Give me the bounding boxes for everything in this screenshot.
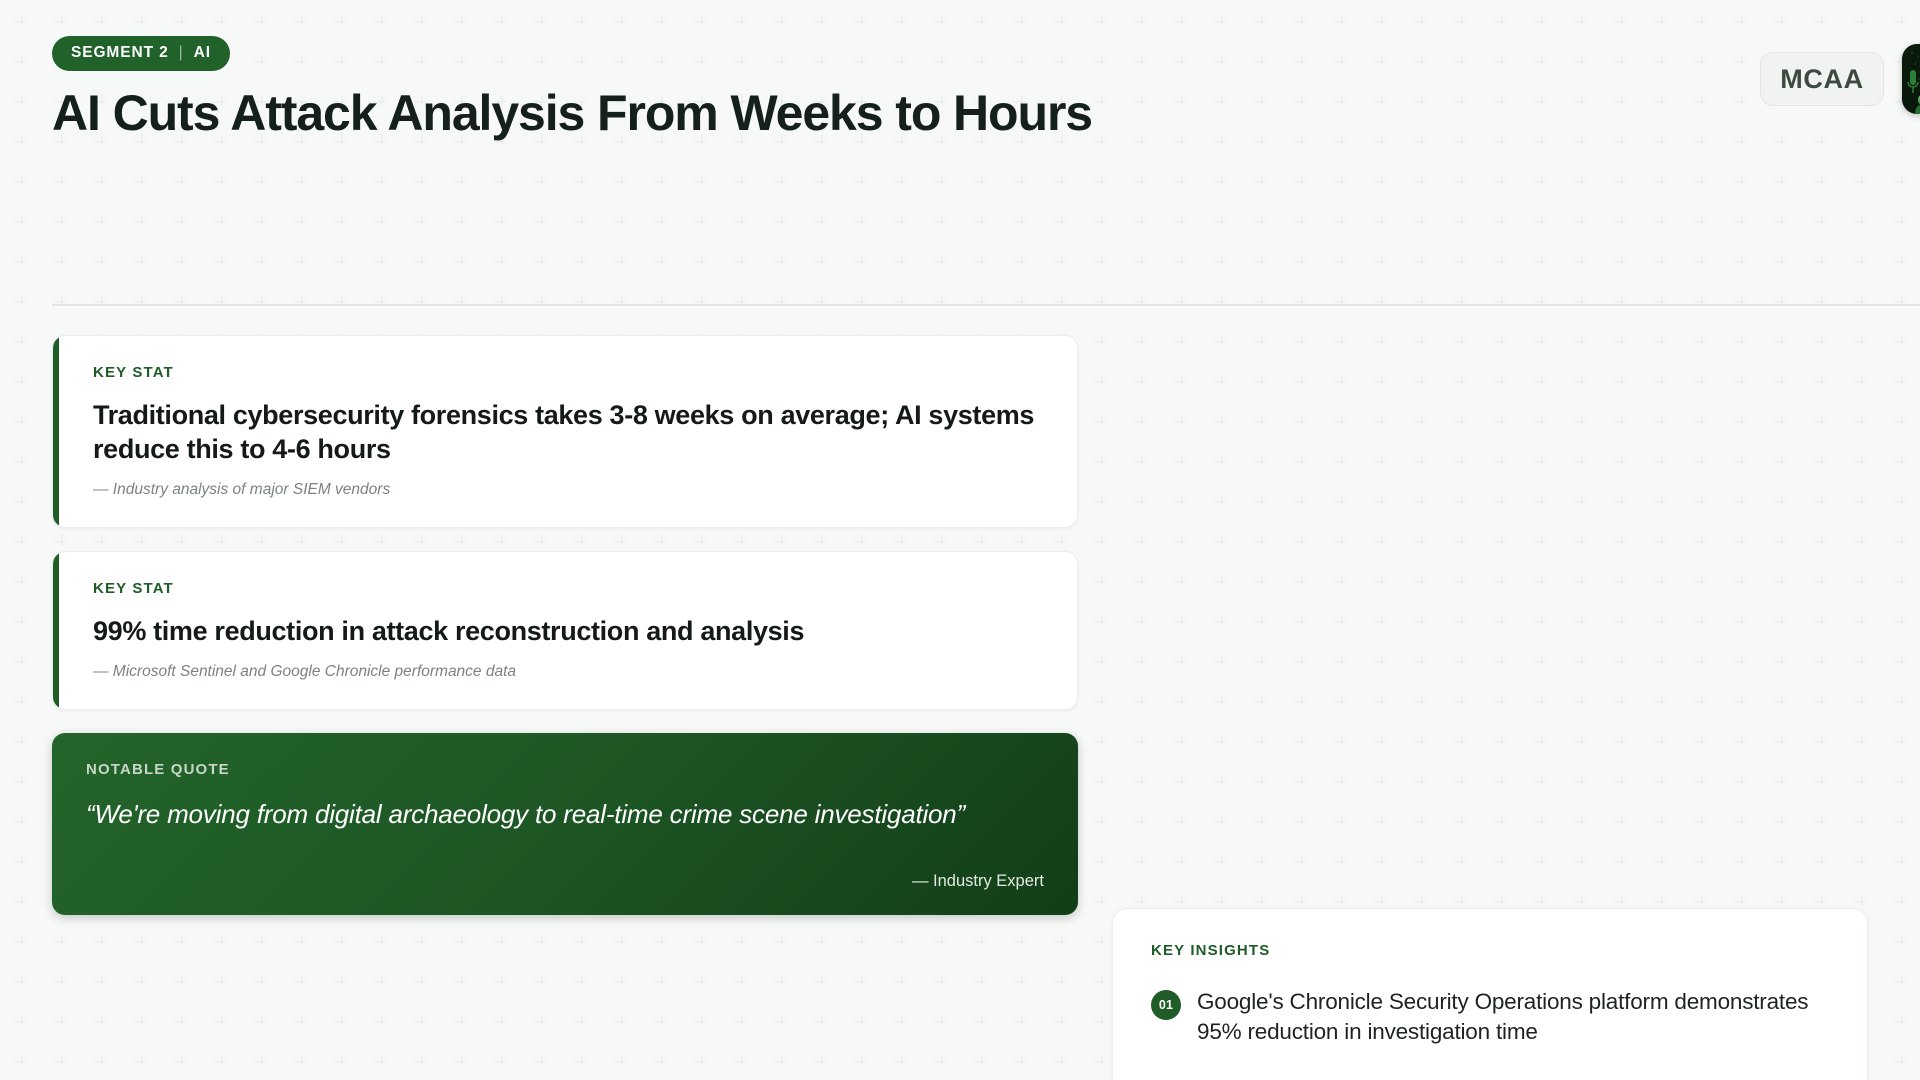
page-title: AI Cuts Attack Analysis From Weeks to Ho… [52,87,1920,140]
podcast-logo-icon: Morpheus Cyber [1902,44,1920,114]
key-insights-panel: KEY INSIGHTS 01 Google's Chronicle Secur… [1112,908,1868,1080]
segment-badge-separator: | [178,44,185,62]
key-stat-headline-2: 99% time reduction in attack reconstruct… [93,614,1043,648]
notable-quote-text: “We're moving from digital archaeology t… [86,798,1044,832]
segment-badge-topic: AI [194,44,211,62]
notable-quote-card: NOTABLE QUOTE “We're moving from digital… [52,733,1078,915]
key-stat-label-1: KEY STAT [93,364,1043,381]
key-stat-card-2: KEY STAT 99% time reduction in attack re… [52,551,1078,710]
insight-number-badge-1: 01 [1151,990,1181,1020]
slide-canvas: SEGMENT 2 | AI AI Cuts Attack Analysis F… [0,0,1920,1080]
key-insights-label: KEY INSIGHTS [1151,942,1829,959]
key-stat-card-1: KEY STAT Traditional cybersecurity foren… [52,335,1078,528]
key-stat-source-1: — Industry analysis of major SIEM vendor… [93,481,1043,499]
header-right-group: MCAA [1760,44,1920,114]
header-divider [52,304,1920,306]
left-column: KEY STAT Traditional cybersecurity foren… [52,335,1078,915]
notable-quote-attribution: — Industry Expert [912,852,1044,891]
mcaa-badge: MCAA [1760,52,1884,106]
insight-item-1: 01 Google's Chronicle Security Operation… [1151,987,1829,1048]
key-stat-headline-1: Traditional cybersecurity forensics take… [93,398,1043,466]
key-stat-source-2: — Microsoft Sentinel and Google Chronicl… [93,663,1043,681]
slide-header: SEGMENT 2 | AI AI Cuts Attack Analysis F… [52,36,1920,166]
notable-quote-label: NOTABLE QUOTE [86,761,1044,778]
segment-badge-number: SEGMENT 2 [71,44,169,62]
key-stat-label-2: KEY STAT [93,580,1043,597]
insight-text-1: Google's Chronicle Security Operations p… [1197,987,1829,1048]
segment-badge: SEGMENT 2 | AI [52,36,230,71]
